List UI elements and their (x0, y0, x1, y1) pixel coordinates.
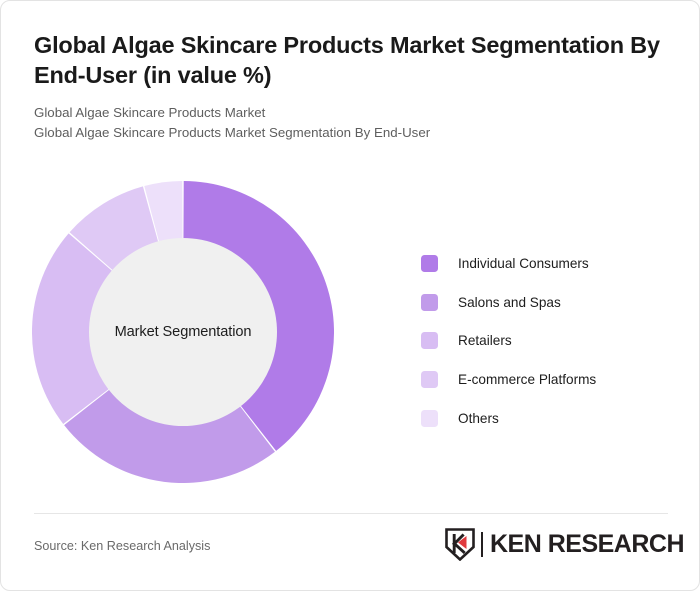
chart-card: Global Algae Skincare Products Market Se… (0, 0, 700, 591)
legend-swatch-icon (421, 410, 438, 427)
chart-legend: Individual ConsumersSalons and SpasRetai… (421, 244, 596, 437)
chart-header: Global Algae Skincare Products Market Se… (34, 31, 668, 144)
legend-swatch-icon (421, 255, 438, 272)
legend-swatch-icon (421, 332, 438, 349)
subtitle-line-2: Global Algae Skincare Products Market Se… (34, 123, 668, 143)
source-note: Source: Ken Research Analysis (34, 539, 210, 553)
legend-label: Individual Consumers (458, 256, 589, 271)
page-title: Global Algae Skincare Products Market Se… (34, 31, 668, 90)
ken-research-shield-icon (445, 528, 475, 561)
footer-divider (34, 513, 668, 514)
legend-item[interactable]: E-commerce Platforms (421, 360, 596, 399)
legend-label: Others (458, 411, 499, 426)
legend-item[interactable]: Salons and Spas (421, 283, 596, 322)
legend-label: E-commerce Platforms (458, 372, 596, 387)
legend-swatch-icon (421, 371, 438, 388)
legend-label: Salons and Spas (458, 295, 561, 310)
donut-svg (32, 181, 334, 483)
legend-swatch-icon (421, 294, 438, 311)
legend-item[interactable]: Others (421, 399, 596, 438)
logo-divider (481, 532, 483, 557)
logo-wordmark: KEN RESEARCH (490, 530, 684, 559)
donut-chart: Market Segmentation (32, 181, 334, 483)
legend-label: Retailers (458, 333, 512, 348)
subtitle-line-1: Global Algae Skincare Products Market (34, 103, 668, 123)
subtitle-block: Global Algae Skincare Products Market Gl… (34, 103, 668, 143)
ken-research-logo: KEN RESEARCH (445, 525, 684, 563)
donut-hole (89, 238, 277, 426)
legend-item[interactable]: Retailers (421, 321, 596, 360)
chart-area: Market Segmentation Individual Consumers… (1, 161, 700, 506)
legend-item[interactable]: Individual Consumers (421, 244, 596, 283)
